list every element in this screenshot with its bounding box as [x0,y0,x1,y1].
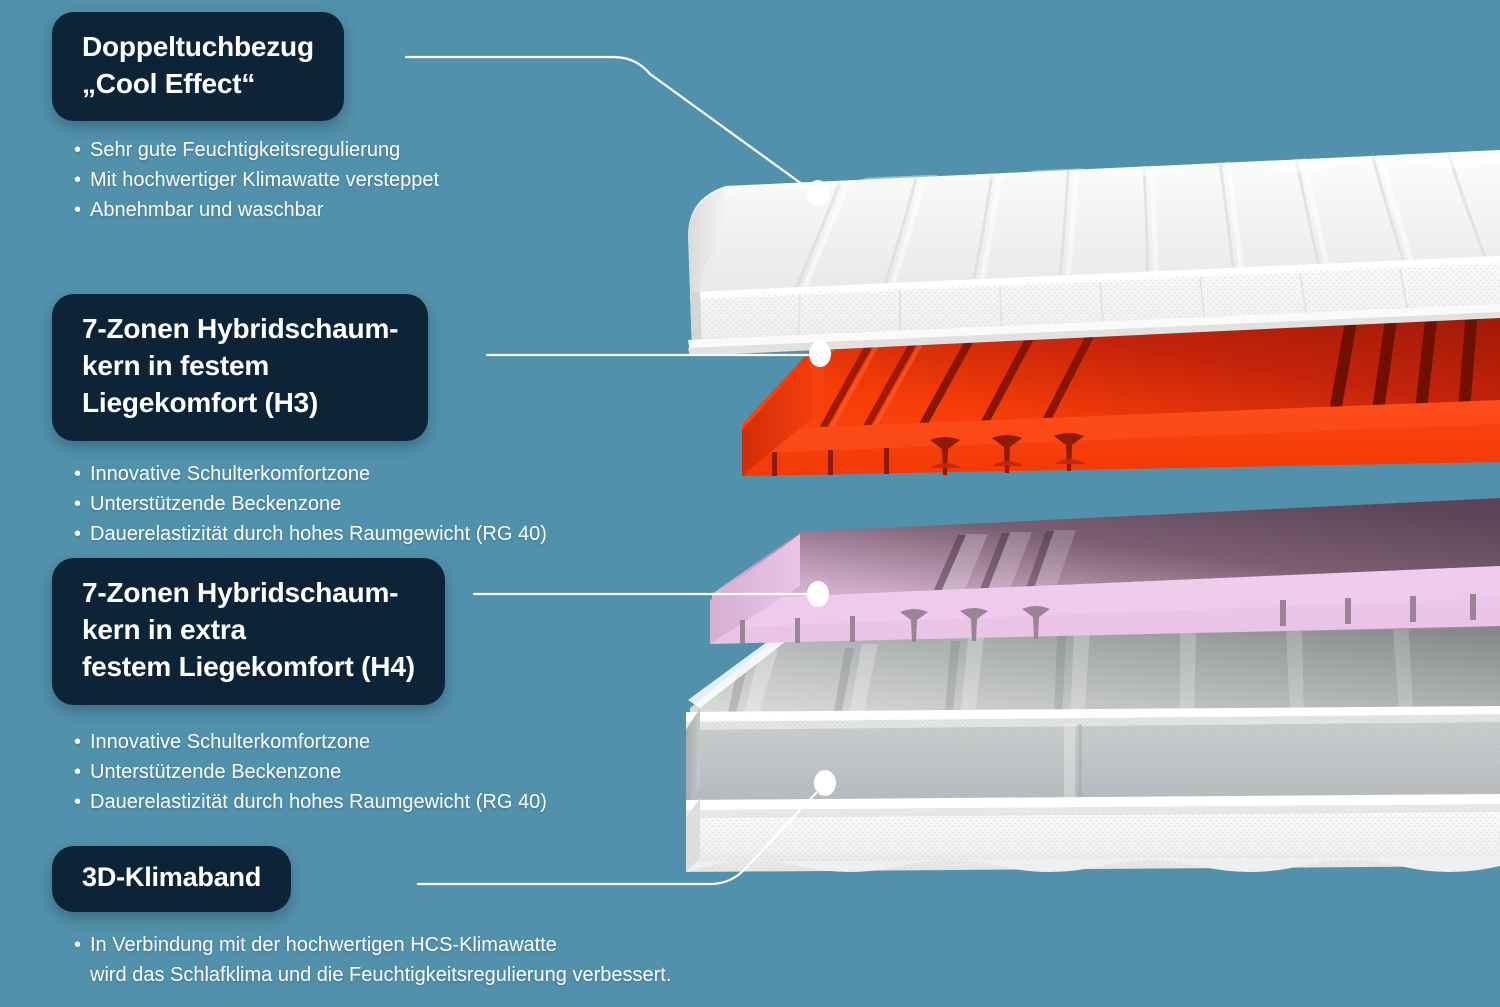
callout-core-h3-title: 7-Zonen Hybridschaum- kern in festem Lie… [52,294,428,441]
callout-cover-title: Doppeltuchbezug „Cool Effect“ [52,12,344,121]
callout-core-h3-bullets: Innovative Schulterkomfortzone Unterstüt… [74,459,547,549]
list-item: Unterstützende Beckenzone [74,757,547,787]
list-item: In Verbindung mit der hochwertigen HCS-K… [74,930,671,990]
infographic-canvas: Doppeltuchbezug „Cool Effect“ Sehr gute … [0,0,1500,1007]
list-item: Sehr gute Feuchtigkeitsregulierung [74,135,439,165]
callout-core-h4: 7-Zonen Hybridschaum- kern in extra fest… [52,558,547,817]
callout-klimaband-bullets: In Verbindung mit der hochwertigen HCS-K… [74,930,671,990]
callout-klimaband-title: 3D-Klimaband [52,846,291,912]
list-item: Unterstützende Beckenzone [74,489,547,519]
callout-core-h4-bullets: Innovative Schulterkomfortzone Unterstüt… [74,727,547,817]
callout-core-h3: 7-Zonen Hybridschaum- kern in festem Lie… [52,294,547,549]
callout-klimaband: 3D-Klimaband In Verbindung mit der hochw… [52,846,671,990]
layer-base [686,608,1500,880]
callout-core-h4-title: 7-Zonen Hybridschaum- kern in extra fest… [52,558,445,705]
list-item: Innovative Schulterkomfortzone [74,727,547,757]
list-item: Mit hochwertiger Klimawatte versteppet [74,165,439,195]
list-item: Innovative Schulterkomfortzone [74,459,547,489]
list-item: Abnehmbar und waschbar [74,195,439,225]
list-item: Dauerelastizität durch hohes Raumgewicht… [74,519,547,549]
callout-cover-bullets: Sehr gute Feuchtigkeitsregulierung Mit h… [74,135,439,225]
list-item: Dauerelastizität durch hohes Raumgewicht… [74,787,547,817]
callout-cover: Doppeltuchbezug „Cool Effect“ Sehr gute … [52,12,439,225]
layer-core-h4 [710,498,1500,644]
